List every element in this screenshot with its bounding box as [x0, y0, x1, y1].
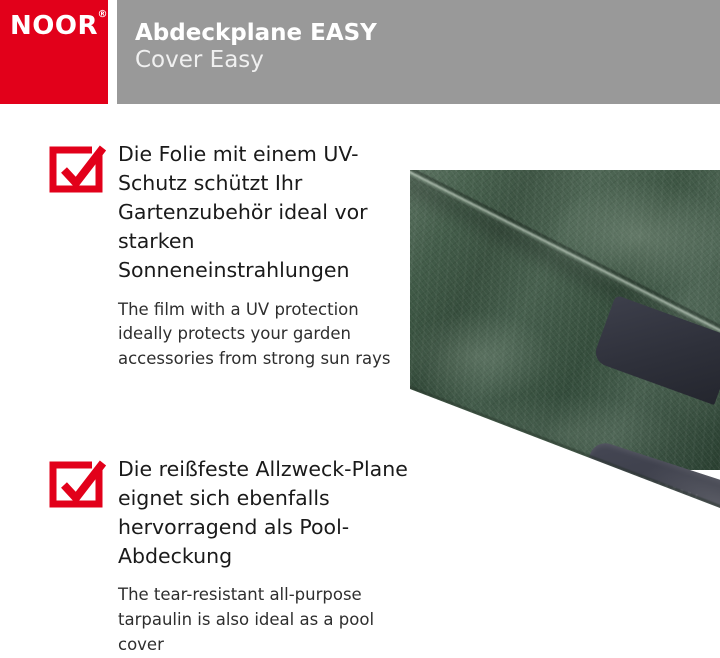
- page-header: NOOR ® Abdeckplane EASY Cover Easy: [0, 0, 720, 104]
- checkbox-checked-icon: [48, 457, 106, 513]
- feature-title-de: Die Folie mit einem UV-Schutz schützt Ih…: [118, 140, 410, 286]
- feature-text: Die Folie mit einem UV-Schutz schützt Ih…: [118, 140, 410, 372]
- feature-title-en: The tear-resistant all-purpose tarpaulin…: [118, 583, 410, 657]
- product-photo: [410, 170, 720, 641]
- feature-block: Die Folie mit einem UV-Schutz schützt Ih…: [0, 140, 410, 372]
- title-banner: Abdeckplane EASY Cover Easy: [117, 0, 720, 104]
- brand-wordmark: NOOR ®: [10, 13, 98, 39]
- feature-block: Die reißfeste Allzweck-Plane eignet sich…: [0, 455, 410, 658]
- feature-text: Die reißfeste Allzweck-Plane eignet sich…: [118, 455, 410, 658]
- feature-title-en: The film with a UV protection ideally pr…: [118, 298, 410, 372]
- brand-name: NOOR: [10, 11, 98, 41]
- feature-title-de: Die reißfeste Allzweck-Plane eignet sich…: [118, 455, 410, 571]
- brand-logo-box: NOOR ®: [0, 0, 108, 104]
- checkbox-checked-icon: [48, 142, 106, 198]
- registered-trademark-icon: ®: [98, 10, 109, 20]
- product-title-de: Abdeckplane EASY: [135, 21, 720, 47]
- product-title-en: Cover Easy: [135, 47, 720, 74]
